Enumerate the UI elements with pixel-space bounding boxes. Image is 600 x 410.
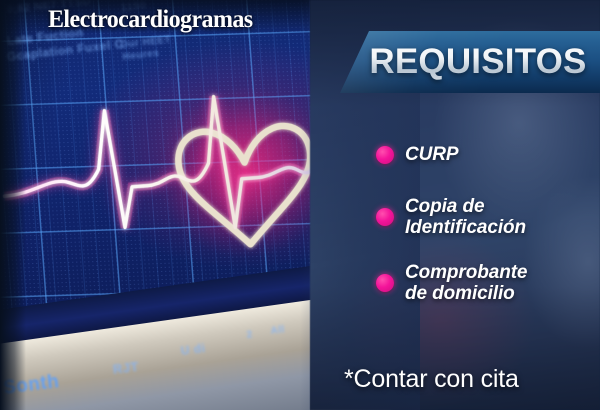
requisitos-banner-label: REQUISITOS [340,31,600,93]
ecg-requirements-poster: 0;82 NE7 TTSD 1150 Late Fuction Gcaplati… [0,0,600,410]
left-vignette [0,0,26,410]
appointment-footnote: *Contar con cita [344,365,519,394]
monitor-overlay-text: U di [180,341,206,358]
list-item: Copia de Identificación [376,196,526,239]
list-item: Comprobante de domicilio [376,262,527,305]
monitor-overlay-text: RJT [112,359,140,377]
page-title: Electrocardiogramas [48,6,253,34]
list-item: CURP [376,144,458,165]
filled-circle-bullet-icon [376,208,394,226]
requirement-label: Comprobante de domicilio [405,262,527,305]
requirement-label: Copia de Identificación [405,196,526,239]
filled-circle-bullet-icon [376,146,394,164]
requirement-label: CURP [405,144,458,165]
monitor-overlay-text: All [270,324,286,337]
monitor-overlay-text: 2 [246,329,253,341]
filled-circle-bullet-icon [376,274,394,292]
